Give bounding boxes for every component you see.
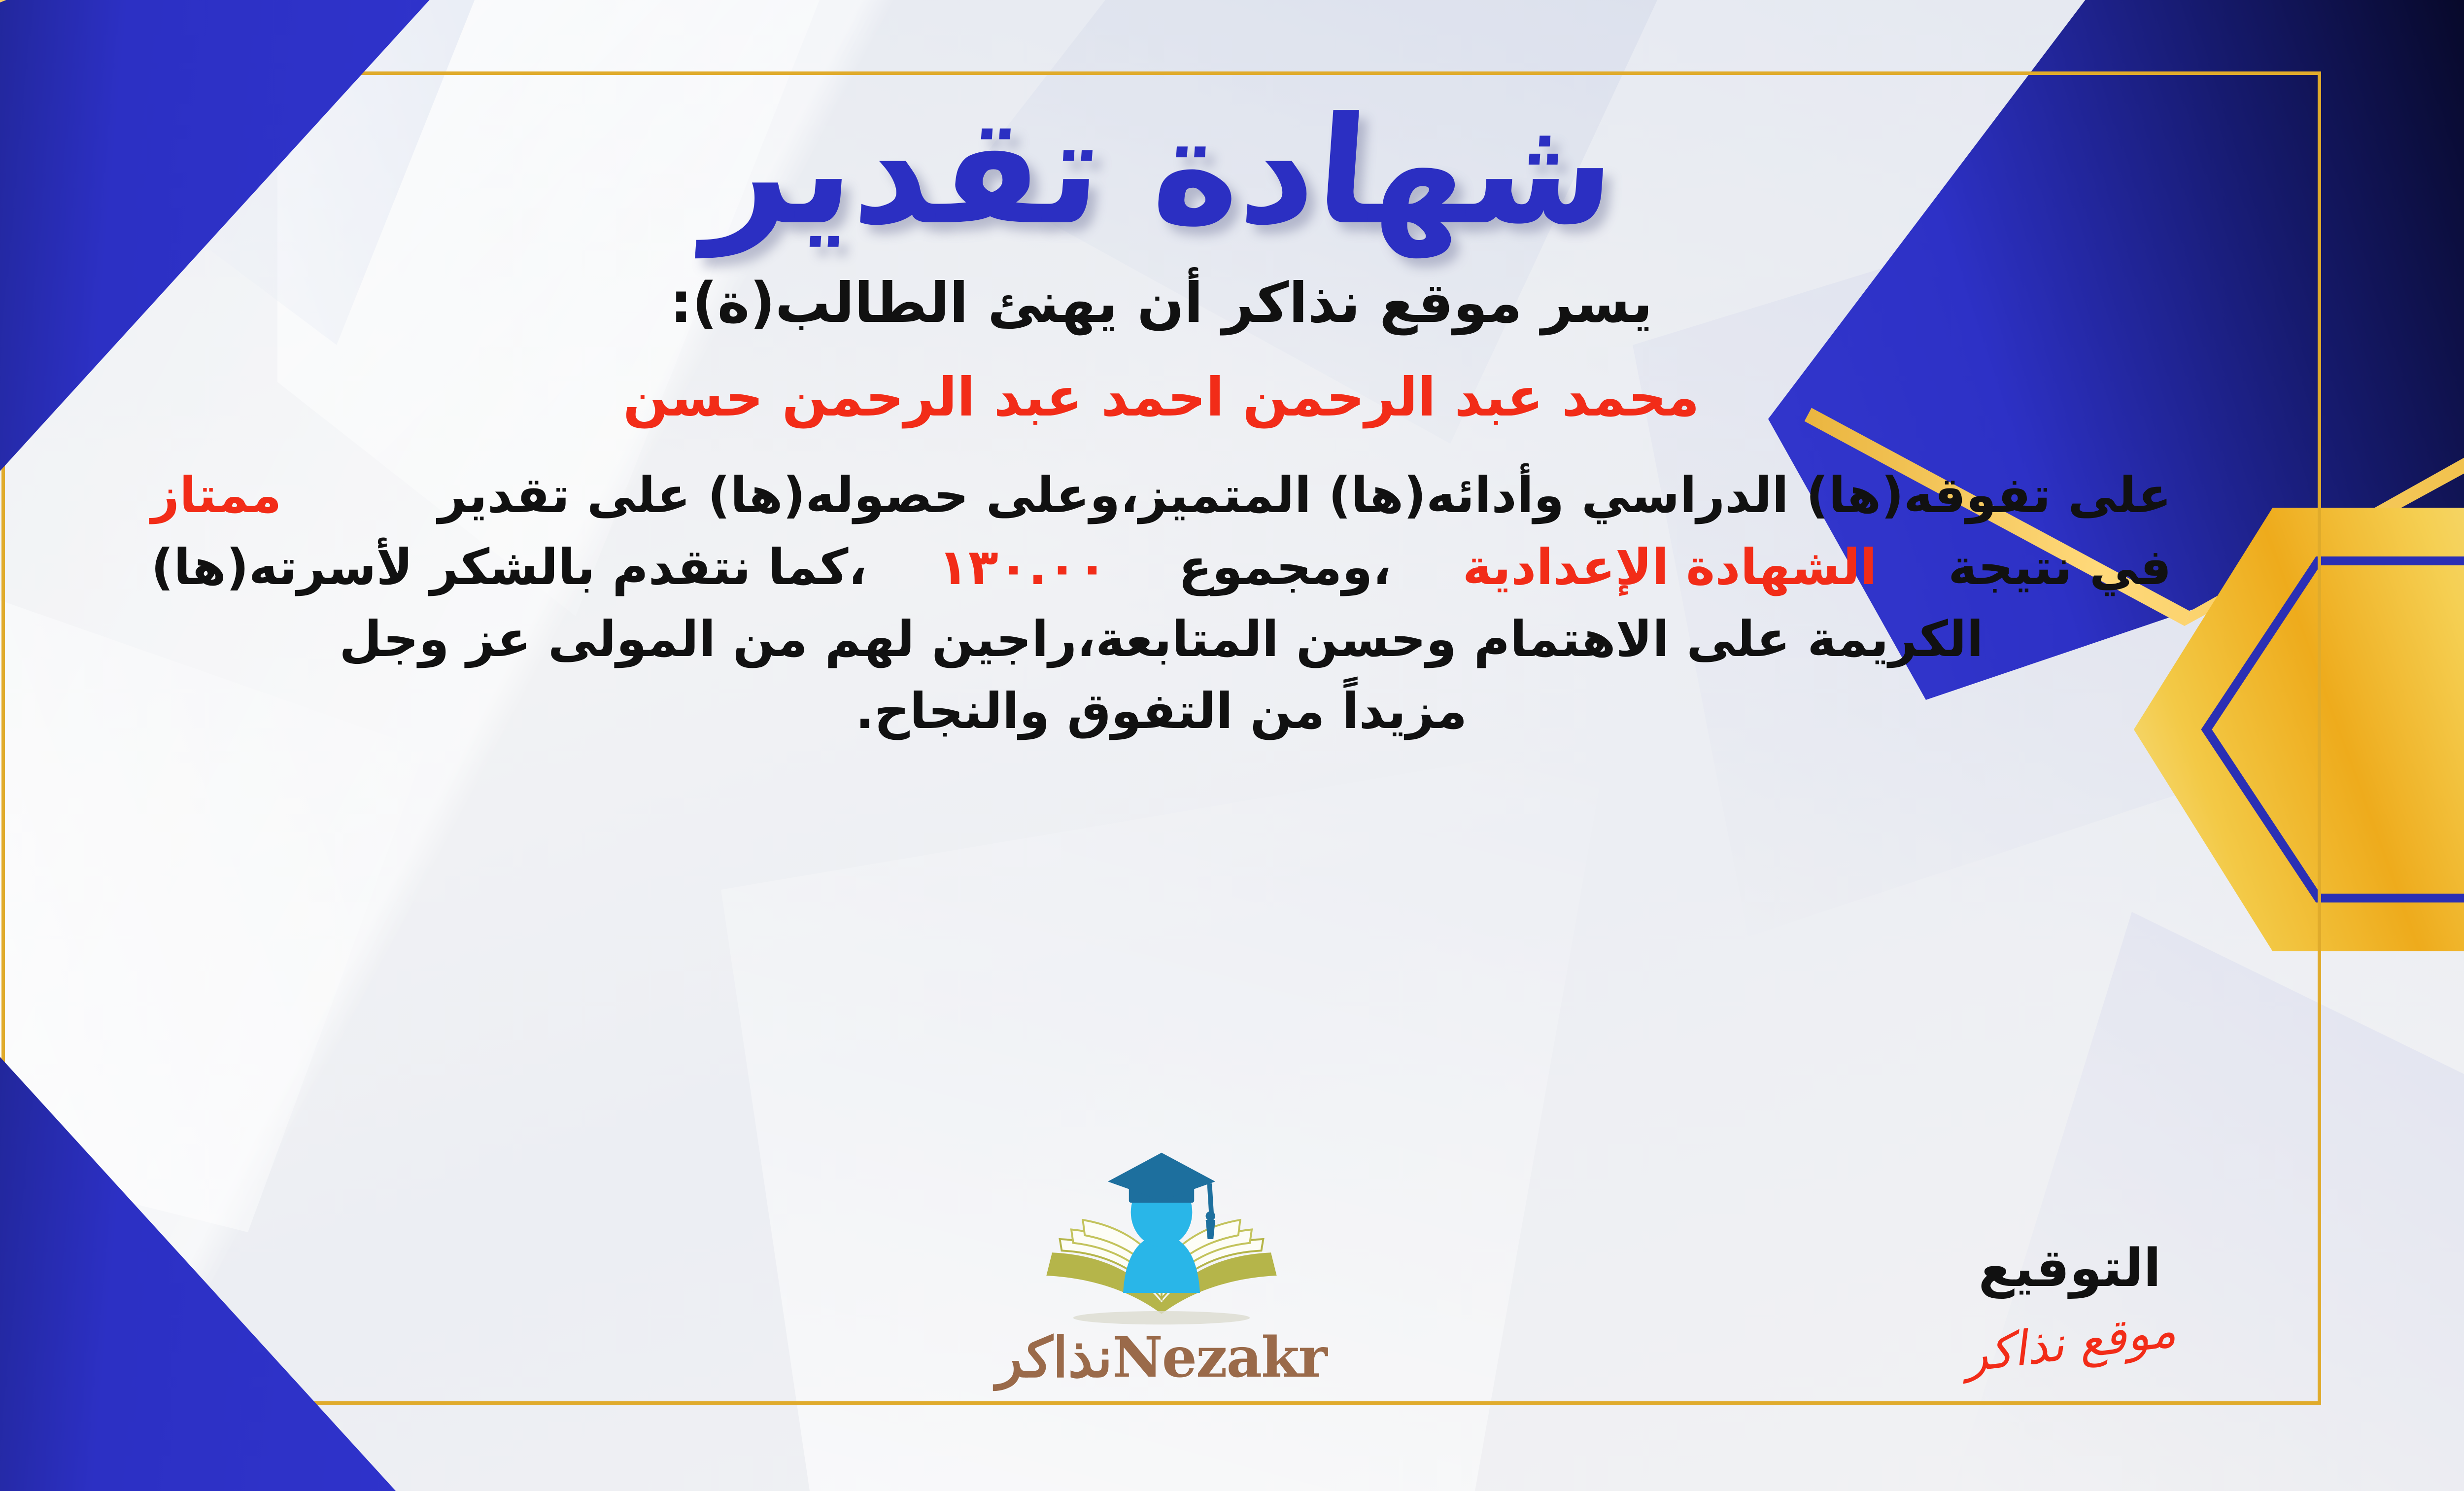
thanks-text: ،كما نتقدم بالشكر لأسرته(ها) (151, 531, 867, 603)
signature-block: التوقيع موقع نذاكر (1848, 1238, 2292, 1370)
citation-line-3: الكريمة على الاهتمام وحسن المتابعة،راجين… (151, 603, 2172, 675)
lead-text: يسر موقع نذاكر أن يهنئ الطالب(ة): (151, 266, 2172, 341)
citation-line-4: مزيداً من التفوق والنجاح. (151, 675, 2172, 747)
certificate-body: يسر موقع نذاكر أن يهنئ الطالب(ة): محمد ع… (151, 266, 2172, 747)
signature-script: موقع نذاكر (1961, 1302, 2178, 1383)
citation-paragraph: على تفوقه(ها) الدراسي وأدائه(ها) المتميز… (151, 459, 2172, 747)
citation-line-1: على تفوقه(ها) الدراسي وأدائه(ها) المتميز… (151, 459, 2172, 531)
citation-line-2: في نتيجة الشهادة الإعدادية ،ومجموع ١٣٠.٠… (151, 531, 2172, 603)
total-label: ،ومجموع (1178, 531, 1391, 603)
brand-logo: Nezakrنذاكر (959, 1147, 1364, 1390)
certificate-footer: التوقيع موقع نذاكر (1, 1094, 2321, 1400)
exam-name: الشهادة الإعدادية (1463, 531, 1877, 603)
exam-prefix: في نتيجة (1948, 531, 2171, 603)
total-score: ١٣٠.٠٠ (938, 531, 1107, 603)
certificate-document: شهادة تقدير يسر موقع نذاكر أن يهنئ الطال… (0, 0, 2464, 1491)
certificate-content: شهادة تقدير يسر موقع نذاكر أن يهنئ الطال… (1, 71, 2321, 1405)
grade-value: ممتاز (151, 459, 282, 531)
logo-wordmark-arabic: نذاكر (996, 1325, 1112, 1390)
student-name: محمد عبد الرحمن احمد عبد الرحمن حسن (151, 363, 2172, 432)
logo-wordmark: Nezakrنذاكر (959, 1325, 1364, 1390)
signature-label: التوقيع (1848, 1238, 2292, 1298)
certificate-title: شهادة تقدير (701, 86, 1621, 256)
logo-wordmark-latin: Nezakr (1112, 1325, 1326, 1390)
citation-line-1-text: على تفوقه(ها) الدراسي وأدائه(ها) المتميز… (438, 459, 2171, 531)
graduate-book-icon (1024, 1147, 1300, 1329)
